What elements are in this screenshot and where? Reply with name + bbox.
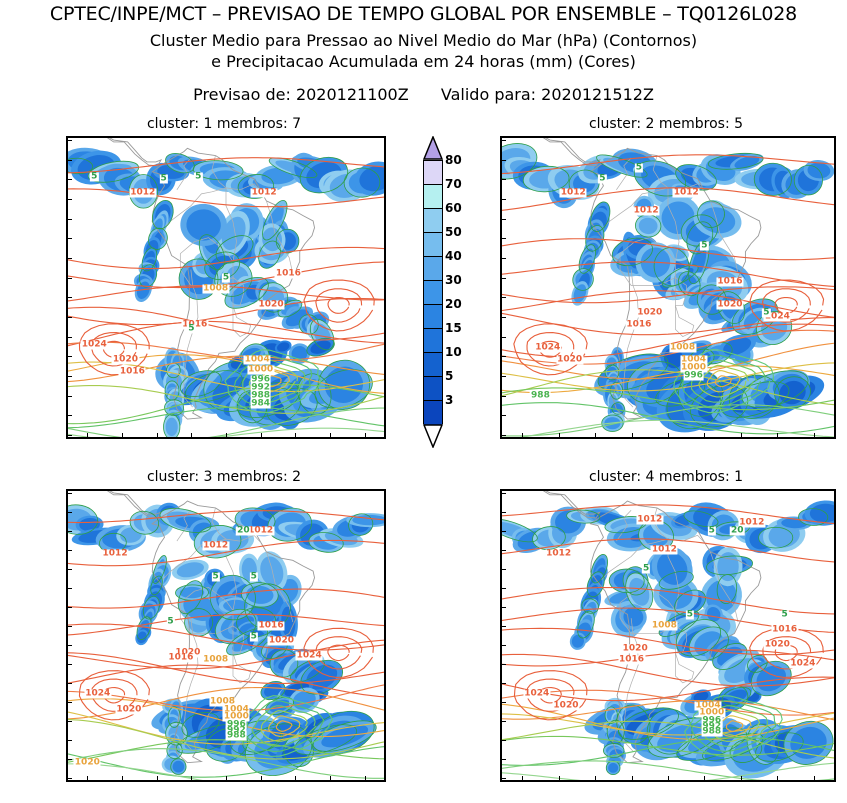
pressure-contour-label: 1012 <box>545 549 572 558</box>
y-axis-tick <box>68 645 72 646</box>
colorbar-band <box>424 209 442 233</box>
y-axis-tick <box>502 512 506 513</box>
map-plot-cluster-3[interactable]: 1012101210121016102010201016100810241024… <box>66 489 386 782</box>
precip-contour-label: 5 <box>700 242 708 251</box>
y-axis-tick <box>68 160 72 161</box>
x-axis-tick <box>295 433 296 437</box>
colorbar-tick-label: 3 <box>445 393 453 407</box>
pressure-contour-label: 1016 <box>716 277 743 286</box>
pressure-contour-label: 1020 <box>552 701 579 710</box>
x-axis-tick <box>87 433 88 437</box>
map-plot-cluster-2[interactable]: 1012101210121016102010241020101610241020… <box>500 136 836 439</box>
x-axis-tick <box>559 433 560 437</box>
y-axis-tick <box>502 626 506 627</box>
x-axis-tick <box>157 433 158 437</box>
colorbar-band <box>424 185 442 209</box>
pressure-contour-label: 1012 <box>102 549 129 558</box>
pressure-contour-label: 1008 <box>202 285 229 294</box>
y-axis-tick <box>68 531 72 532</box>
pressure-contour-label: 1020 <box>115 705 142 714</box>
y-axis-tick <box>502 531 506 532</box>
colorbar-under-arrow <box>423 424 443 446</box>
x-axis-tick <box>777 433 778 437</box>
x-axis-tick <box>704 776 705 780</box>
panel-title-cluster-4: cluster: 4 membros: 1 <box>500 469 832 485</box>
map-plot-cluster-4[interactable]: 1012101210121012100810161020102010161024… <box>500 489 836 782</box>
y-axis-tick <box>502 778 506 779</box>
y-axis-tick <box>502 140 506 141</box>
x-axis-tick <box>632 776 633 780</box>
valid-for-value: 2020121512Z <box>541 85 654 104</box>
colorbar-tick-label: 70 <box>445 177 462 191</box>
pressure-contour-label: 1012 <box>673 189 700 198</box>
pressure-contour-label: 988 <box>226 732 247 741</box>
y-axis-tick <box>68 140 72 141</box>
x-axis-tick <box>226 776 227 780</box>
x-axis-tick <box>668 433 669 437</box>
panel-cluster-1: cluster: 1 membros: 71012101210081016101… <box>66 136 382 435</box>
y-axis-tick <box>68 759 72 760</box>
precip-contour-label: 5 <box>686 610 694 619</box>
y-axis-tick <box>68 569 72 570</box>
pressure-contour-label: 1008 <box>202 656 229 665</box>
precip-contour-label: 5 <box>780 610 788 619</box>
pressure-contour-label: 1016 <box>618 656 645 665</box>
y-axis-tick <box>502 376 506 377</box>
pressure-contour-label: 1012 <box>651 546 678 555</box>
colorbar-tick-label: 15 <box>445 321 462 335</box>
x-axis-tick <box>191 776 192 780</box>
y-axis-tick <box>68 376 72 377</box>
colorbar-tick-label: 60 <box>445 201 462 215</box>
y-axis-tick <box>68 179 72 180</box>
pressure-contour-label: 1024 <box>789 660 816 669</box>
y-axis-tick <box>68 778 72 779</box>
map-plot-cluster-1[interactable]: 1012101210081016101610201024102010161004… <box>66 136 386 439</box>
pressure-contour-label: 1016 <box>119 368 146 377</box>
pressure-contour-label: 1012 <box>633 206 660 215</box>
y-axis-tick <box>502 179 506 180</box>
subtitle-line-1: Cluster Medio para Pressao ao Nivel Medi… <box>0 31 847 50</box>
colorbar-band <box>424 305 442 329</box>
y-axis-tick <box>502 683 506 684</box>
precip-contour-label: 5 <box>159 175 167 184</box>
y-axis-tick <box>502 550 506 551</box>
x-axis-tick <box>261 776 262 780</box>
precip-contour-label: 5 <box>635 163 643 172</box>
x-axis-tick <box>122 433 123 437</box>
colorbar-band <box>424 377 442 401</box>
panel-title-cluster-3: cluster: 3 membros: 2 <box>66 469 382 485</box>
x-axis-tick <box>330 433 331 437</box>
x-axis-tick <box>522 776 523 780</box>
pressure-contour-label: 1012 <box>247 527 274 536</box>
y-axis-tick <box>502 238 506 239</box>
y-axis-tick <box>502 415 506 416</box>
y-axis-tick <box>68 550 72 551</box>
y-axis-tick <box>502 664 506 665</box>
x-axis-tick <box>191 433 192 437</box>
x-axis-tick <box>122 776 123 780</box>
pressure-contour-label: 1020 <box>258 301 285 310</box>
y-axis-tick <box>502 493 506 494</box>
y-axis-tick <box>68 626 72 627</box>
y-axis-tick <box>502 645 506 646</box>
y-axis-tick <box>502 759 506 760</box>
colorbar-band <box>424 161 442 185</box>
y-axis-tick <box>502 740 506 741</box>
forecast-time-line: Previsao de: 2020121100Z Valido para: 20… <box>0 85 847 104</box>
x-axis-tick <box>522 433 523 437</box>
map-canvas <box>502 491 834 780</box>
y-axis-tick <box>502 435 506 436</box>
y-axis-tick <box>68 356 72 357</box>
y-axis-tick <box>68 317 72 318</box>
precip-contour-label: 5 <box>708 527 716 536</box>
y-axis-tick <box>502 396 506 397</box>
panel-title-cluster-2: cluster: 2 membros: 5 <box>500 116 832 132</box>
colorbar-bands <box>423 160 443 424</box>
precip-contour-label: 5 <box>222 273 230 282</box>
panel-cluster-3: cluster: 3 membros: 21012101210121016102… <box>66 489 382 778</box>
x-axis-tick <box>741 776 742 780</box>
pressure-contour-label: 996 <box>683 372 704 381</box>
pressure-contour-label: 1020 <box>112 356 139 365</box>
x-axis-tick <box>814 776 815 780</box>
y-axis-tick <box>68 337 72 338</box>
subtitle-line-2: e Precipitacao Acumulada em 24 horas (mm… <box>0 52 847 71</box>
y-axis-tick <box>68 238 72 239</box>
y-axis-tick <box>68 664 72 665</box>
x-axis-tick <box>157 776 158 780</box>
panel-cluster-4: cluster: 4 membros: 11012101210121012100… <box>500 489 832 778</box>
y-axis-tick <box>502 337 506 338</box>
x-axis-tick <box>814 433 815 437</box>
pressure-contour-label: 988 <box>701 728 722 737</box>
x-axis-tick <box>330 776 331 780</box>
precip-contour-label: 5 <box>211 572 219 581</box>
y-axis-tick <box>502 258 506 259</box>
x-axis-tick <box>668 776 669 780</box>
x-axis-tick <box>559 776 560 780</box>
y-axis-tick <box>68 683 72 684</box>
precip-contour-label: 5 <box>166 618 174 627</box>
x-axis-tick <box>365 433 366 437</box>
colorbar-band <box>424 281 442 305</box>
y-axis-tick <box>502 317 506 318</box>
pressure-contour-label: 1024 <box>534 344 561 353</box>
pressure-contour-label: 1004 <box>244 356 271 365</box>
y-axis-tick <box>68 258 72 259</box>
precip-contour-label: 5 <box>642 565 650 574</box>
pressure-contour-label: 1008 <box>651 622 678 631</box>
y-axis-tick <box>68 435 72 436</box>
pressure-contour-label: 1024 <box>81 340 108 349</box>
colorbar-band <box>424 401 442 425</box>
y-axis-tick <box>502 160 506 161</box>
pressure-contour-label: 1020 <box>764 641 791 650</box>
precip-contour-label: 5 <box>250 572 258 581</box>
y-axis-tick <box>68 702 72 703</box>
y-axis-tick <box>68 219 72 220</box>
y-axis-tick <box>502 219 506 220</box>
precip-contour-label: 5 <box>194 173 202 182</box>
pressure-contour-label: 1020 <box>636 309 663 318</box>
pressure-contour-label: 1024 <box>296 652 323 661</box>
y-axis-tick <box>502 607 506 608</box>
x-axis-tick <box>741 433 742 437</box>
y-axis-tick <box>502 721 506 722</box>
pressure-contour-label: 1012 <box>560 189 587 198</box>
pressure-contour-label: 1020 <box>556 356 583 365</box>
pressure-contour-label: 1020 <box>716 301 743 310</box>
pressure-contour-label: 1020 <box>74 758 101 767</box>
forecast-from-label: Previsao de: <box>193 85 291 104</box>
precip-contour-label: 5 <box>187 324 195 333</box>
x-axis-tick <box>632 433 633 437</box>
y-axis-tick <box>68 607 72 608</box>
forecast-from-value: 2020121100Z <box>296 85 409 104</box>
y-axis-tick <box>502 569 506 570</box>
precipitation-colorbar: 80706050403020151053 <box>423 136 483 436</box>
pressure-contour-label: 1012 <box>129 189 156 198</box>
colorbar-tick-label: 20 <box>445 297 462 311</box>
pressure-contour-label: 984 <box>250 399 271 408</box>
pressure-contour-label: 1020 <box>622 644 649 653</box>
pressure-contour-label: 1016 <box>625 320 652 329</box>
panel-title-cluster-1: cluster: 1 membros: 7 <box>66 116 382 132</box>
x-axis-tick <box>87 776 88 780</box>
y-axis-tick <box>502 588 506 589</box>
precip-contour-label: 5 <box>90 173 98 182</box>
page-title: CPTEC/INPE/MCT – PREVISAO DE TEMPO GLOBA… <box>0 3 847 25</box>
valid-for-label: Valido para: <box>441 85 536 104</box>
pressure-contour-label: 1020 <box>268 637 295 646</box>
x-axis-tick <box>704 433 705 437</box>
x-axis-tick <box>295 776 296 780</box>
precip-contour-label: 20 <box>730 527 745 536</box>
pressure-contour-label: 1012 <box>251 189 278 198</box>
x-axis-tick <box>226 433 227 437</box>
pressure-contour-label: 1024 <box>84 690 111 699</box>
precip-contour-label: 20 <box>236 527 251 536</box>
precip-contour-label: 5 <box>598 175 606 184</box>
pressure-contour-label: 1016 <box>275 269 302 278</box>
x-axis-tick <box>261 433 262 437</box>
y-axis-tick <box>68 512 72 513</box>
pressure-contour-label: 1012 <box>636 515 663 524</box>
colorbar-band <box>424 329 442 353</box>
y-axis-tick <box>68 493 72 494</box>
pressure-contour-label: 1000 <box>247 366 274 375</box>
y-axis-tick <box>68 278 72 279</box>
colorbar-tick-label: 80 <box>445 153 462 167</box>
precip-contour-label: 5 <box>762 309 770 318</box>
map-canvas <box>502 138 834 437</box>
y-axis-tick <box>68 721 72 722</box>
y-axis-tick <box>68 396 72 397</box>
y-axis-tick <box>68 199 72 200</box>
pressure-contour-label: 1016 <box>258 622 285 631</box>
y-axis-tick <box>68 415 72 416</box>
colorbar-tick-label: 30 <box>445 273 462 287</box>
y-axis-tick <box>502 702 506 703</box>
x-axis-tick <box>777 776 778 780</box>
colorbar-band <box>424 233 442 257</box>
colorbar-tick-label: 50 <box>445 225 462 239</box>
pressure-contour-label: 1008 <box>669 344 696 353</box>
y-axis-tick <box>68 297 72 298</box>
pressure-contour-label: 1024 <box>523 690 550 699</box>
pressure-contour-label: 1016 <box>167 654 194 663</box>
colorbar-over-arrow <box>423 136 443 158</box>
x-axis-tick <box>595 433 596 437</box>
colorbar-tick-label: 40 <box>445 249 462 263</box>
colorbar-band <box>424 257 442 281</box>
y-axis-tick <box>502 199 506 200</box>
y-axis-tick <box>68 740 72 741</box>
colorbar-tick-label: 5 <box>445 369 453 383</box>
precip-contour-label: 5 <box>250 633 258 642</box>
y-axis-tick <box>68 588 72 589</box>
x-axis-tick <box>595 776 596 780</box>
y-axis-tick <box>502 297 506 298</box>
panel-cluster-2: cluster: 2 membros: 51012101210121016102… <box>500 136 832 435</box>
colorbar-tick-label: 10 <box>445 345 462 359</box>
pressure-contour-label: 1016 <box>771 625 798 634</box>
pressure-contour-label: 988 <box>530 391 551 400</box>
pressure-contour-label: 1012 <box>202 542 229 551</box>
y-axis-tick <box>502 278 506 279</box>
x-axis-tick <box>365 776 366 780</box>
colorbar-band <box>424 353 442 377</box>
y-axis-tick <box>502 356 506 357</box>
